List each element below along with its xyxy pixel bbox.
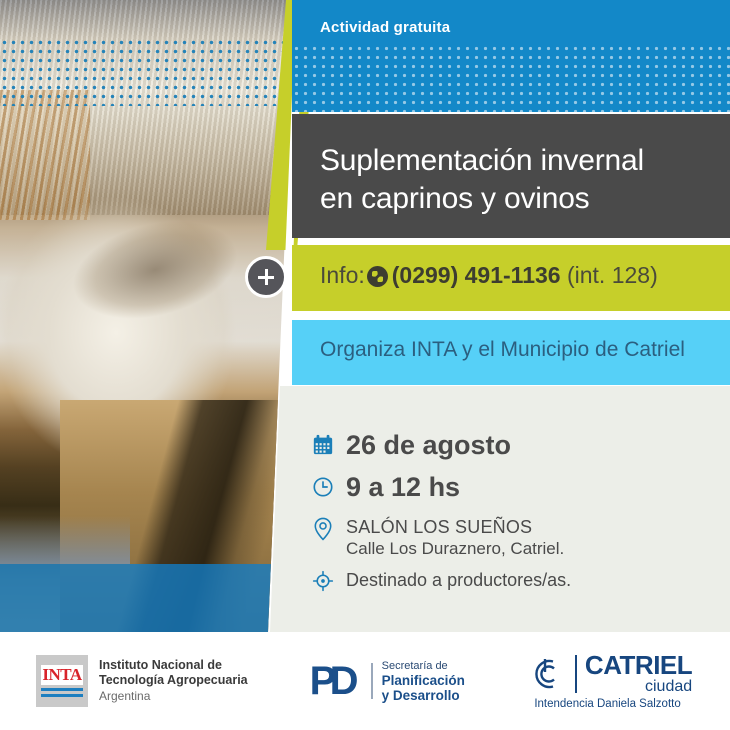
detail-row-date: 26 de agosto: [310, 432, 511, 458]
catriel-word: ciudad: [585, 678, 692, 695]
title-line-1: Suplementación invernal: [320, 142, 644, 180]
inta-bar-1: [41, 688, 83, 692]
organizer-text: Organiza INTA y el Municipio de Catriel: [320, 338, 685, 362]
inta-bar-2: [41, 694, 83, 698]
info-line: Info:(0299) 491-1136 (int. 128): [320, 262, 658, 289]
phone-extension: (int. 128): [567, 262, 658, 288]
photo-blue-gradient: [0, 516, 130, 564]
banner-dot-pattern: [292, 44, 730, 112]
inta-line-1: Instituto Nacional de: [99, 658, 248, 673]
pd-logo: P D Secretaría de Planificación y Desarr…: [310, 660, 465, 703]
pd-mark-icon: P D: [310, 663, 362, 699]
target-icon: [310, 568, 336, 594]
inta-logo: INTA Instituto Nacional de Tecnología Ag…: [36, 655, 248, 707]
phone-number[interactable]: (0299) 491-1136: [392, 262, 561, 288]
audience-text: Destinado a productores/as.: [346, 568, 571, 592]
pd-divider: [371, 663, 373, 699]
info-prefix: Info:: [320, 262, 365, 288]
place-text-group: SALÓN LOS SUEÑOS Calle Los Duraznero, Ca…: [346, 516, 564, 560]
inta-mark-icon: INTA: [36, 655, 88, 707]
poster-canvas: Actividad gratuita Suplementación invern…: [0, 0, 730, 730]
poster-title: Suplementación invernal en caprinos y ov…: [320, 142, 644, 218]
inta-line-2: Tecnología Agropecuaria: [99, 673, 248, 688]
phone-icon: [367, 266, 388, 287]
catriel-name: CATRIEL: [585, 652, 692, 678]
venue-address: Calle Los Duraznero, Catriel.: [346, 538, 564, 560]
photo-blue-band: [0, 564, 310, 632]
catriel-subtitle: Intendencia Daniela Salzotto: [523, 698, 692, 710]
map-pin-icon: [310, 516, 336, 542]
title-block: Suplementación invernal en caprinos y ov…: [292, 114, 730, 238]
photo-collage: [0, 0, 310, 632]
pd-line-2: Planificación: [382, 673, 465, 688]
catriel-divider: [575, 655, 577, 693]
pd-line-1: Secretaría de: [382, 660, 465, 673]
free-activity-label: Actividad gratuita: [320, 19, 450, 36]
info-block: Info:(0299) 491-1136 (int. 128): [292, 245, 730, 311]
inta-wordmark: INTA: [41, 665, 83, 685]
details-background: [292, 386, 730, 632]
detail-row-place: SALÓN LOS SUEÑOS Calle Los Duraznero, Ca…: [310, 516, 564, 560]
pd-text: Secretaría de Planificación y Desarrollo: [382, 660, 465, 703]
organizer-block: Organiza INTA y el Municipio de Catriel: [292, 320, 730, 385]
catriel-wordmark: CATRIEL ciudad: [585, 652, 692, 695]
plus-icon[interactable]: [245, 256, 287, 298]
pd-line-3: y Desarrollo: [382, 688, 465, 703]
pd-letter-d: D: [330, 663, 359, 699]
event-date: 26 de agosto: [346, 432, 511, 458]
footer-logos: INTA Instituto Nacional de Tecnología Ag…: [0, 632, 730, 730]
free-activity-banner: Actividad gratuita: [292, 0, 730, 112]
detail-row-time: 9 a 12 hs: [310, 474, 460, 500]
detail-row-audience: Destinado a productores/as.: [310, 568, 571, 594]
catriel-mark-icon: [523, 654, 567, 694]
calendar-icon: [310, 432, 336, 458]
inta-line-3: Argentina: [99, 689, 248, 704]
venue-name: SALÓN LOS SUEÑOS: [346, 516, 564, 538]
title-line-2: en caprinos y ovinos: [320, 180, 644, 218]
catriel-logo: CATRIEL ciudad Intendencia Daniela Salzo…: [523, 652, 692, 710]
photo-dot-overlay: [0, 38, 310, 106]
inta-text: Instituto Nacional de Tecnología Agropec…: [99, 658, 248, 704]
catriel-logo-row: CATRIEL ciudad: [523, 652, 692, 695]
clock-icon: [310, 474, 336, 500]
event-time: 9 a 12 hs: [346, 474, 460, 500]
